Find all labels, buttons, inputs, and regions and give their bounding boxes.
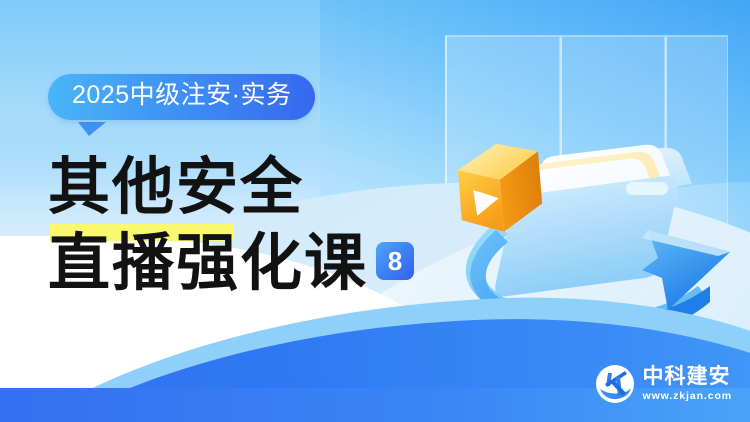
brand-url: www.zkjan.com xyxy=(643,391,733,402)
headline-line-2: 直播强化课8 xyxy=(48,228,468,298)
poster-headline: 其他安全 直播强化课8 xyxy=(48,152,468,298)
eyebrow-pill-tail xyxy=(78,122,106,136)
episode-badge: 8 xyxy=(376,242,414,280)
headline-line-1: 其他安全 xyxy=(48,152,468,222)
brand-logo: 中科建安 www.zkjan.com xyxy=(595,364,733,404)
eyebrow-badge: 2025中级注安·实务 xyxy=(48,74,315,120)
course-poster: 2025中级注安·实务 其他安全 直播强化课8 中科建安 www.zkjan.c… xyxy=(0,0,750,422)
brand-text-block: 中科建安 www.zkjan.com xyxy=(643,366,733,402)
brand-mark-icon xyxy=(595,364,635,404)
brand-name: 中科建安 xyxy=(643,366,733,387)
